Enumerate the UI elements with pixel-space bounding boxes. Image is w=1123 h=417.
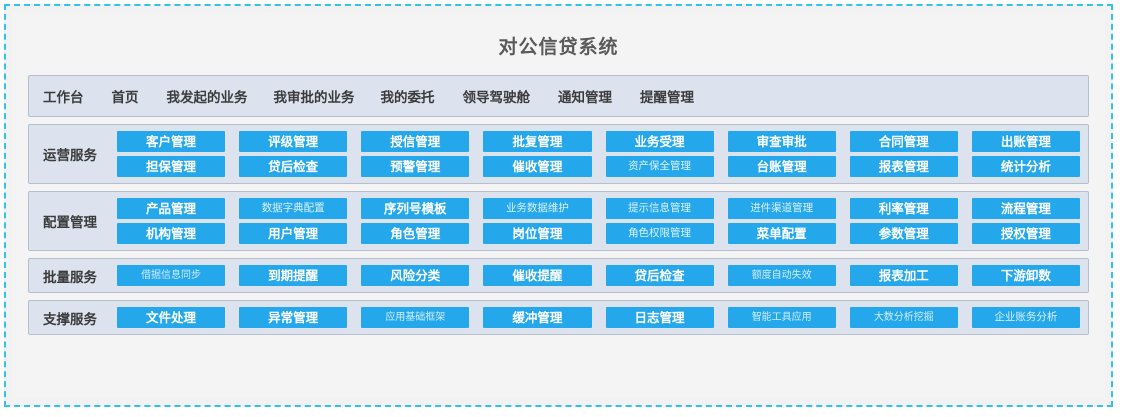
module-grid-configuration-management: 产品管理 数据字典配置 序列号模板 业务数据维护 提示信息管理 进件渠道管理 利… (117, 198, 1080, 244)
tile-post-management[interactable]: 岗位管理 (483, 223, 591, 244)
tile-enterprise-financial-analysis[interactable]: 企业账务分析 (972, 307, 1080, 328)
tile-serial-number-template[interactable]: 序列号模板 (361, 198, 469, 219)
tile-report-management[interactable]: 报表管理 (850, 156, 958, 177)
tile-report-processing[interactable]: 报表加工 (850, 265, 958, 286)
page-title: 对公信贷系统 (12, 12, 1105, 75)
tile-iou-information-sync[interactable]: 借据信息同步 (117, 265, 225, 286)
tile-asset-preservation-management[interactable]: 资产保全管理 (606, 156, 714, 177)
tile-credit-limit-auto-expiry[interactable]: 额度自动失效 (728, 265, 836, 286)
tile-user-management[interactable]: 用户管理 (239, 223, 347, 244)
tile-product-management[interactable]: 产品管理 (117, 198, 225, 219)
tile-parameter-management[interactable]: 参数管理 (850, 223, 958, 244)
tile-customer-management[interactable]: 客户管理 (117, 131, 225, 152)
tile-credit-granting-management[interactable]: 授信管理 (361, 131, 469, 152)
nav-item-home[interactable]: 首页 (112, 86, 139, 106)
tile-log-management[interactable]: 日志管理 (606, 307, 714, 328)
tile-batch-post-loan-inspection[interactable]: 贷后检查 (606, 265, 714, 286)
tile-role-permission-management[interactable]: 角色权限管理 (606, 223, 714, 244)
tile-maturity-reminder[interactable]: 到期提醒 (239, 265, 347, 286)
module-configuration-management: 配置管理 产品管理 数据字典配置 序列号模板 业务数据维护 提示信息管理 进件渠… (28, 191, 1089, 251)
module-label-configuration-management: 配置管理 (37, 211, 117, 231)
nav-item-notification-management[interactable]: 通知管理 (558, 86, 612, 106)
module-batch-service: 批量服务 借据信息同步 到期提醒 风险分类 催收提醒 贷后检查 额度自动失效 报… (28, 258, 1089, 293)
module-support-service: 支撑服务 文件处理 异常管理 应用基础框架 缓冲管理 日志管理 智能工具应用 大… (28, 300, 1089, 335)
tile-review-and-approval[interactable]: 审查审批 (728, 131, 836, 152)
tile-prompt-information-management[interactable]: 提示信息管理 (606, 198, 714, 219)
tile-data-dictionary-configuration[interactable]: 数据字典配置 (239, 198, 347, 219)
app-shell: 对公信贷系统 工作台 首页 我发起的业务 我审批的业务 我的委托 领导驾驶舱 通… (12, 12, 1105, 399)
tile-ledger-management[interactable]: 台账管理 (728, 156, 836, 177)
nav-item-my-approved-business[interactable]: 我审批的业务 (274, 86, 355, 106)
tile-guarantee-management[interactable]: 担保管理 (117, 156, 225, 177)
tile-risk-classification[interactable]: 风险分类 (361, 265, 469, 286)
nav-item-my-delegation[interactable]: 我的委托 (381, 86, 435, 106)
tile-buffer-management[interactable]: 缓冲管理 (483, 307, 591, 328)
tile-big-data-analysis-mining[interactable]: 大数分析挖掘 (850, 307, 958, 328)
tile-exception-management[interactable]: 异常管理 (239, 307, 347, 328)
module-grid-batch-service: 借据信息同步 到期提醒 风险分类 催收提醒 贷后检查 额度自动失效 报表加工 下… (117, 265, 1080, 286)
nav-item-workbench[interactable]: 工作台 (43, 86, 84, 106)
nav-item-reminder-management[interactable]: 提醒管理 (640, 86, 694, 106)
module-grid-operations-service: 客户管理 评级管理 授信管理 批复管理 业务受理 审查审批 合同管理 出账管理 … (117, 131, 1080, 177)
tile-business-acceptance[interactable]: 业务受理 (606, 131, 714, 152)
tile-application-base-framework[interactable]: 应用基础框架 (361, 307, 469, 328)
tile-early-warning-management[interactable]: 预警管理 (361, 156, 469, 177)
tile-statistical-analysis[interactable]: 统计分析 (972, 156, 1080, 177)
page-frame: 对公信贷系统 工作台 首页 我发起的业务 我审批的业务 我的委托 领导驾驶舱 通… (4, 4, 1113, 407)
module-grid-support-service: 文件处理 异常管理 应用基础框架 缓冲管理 日志管理 智能工具应用 大数分析挖掘… (117, 307, 1080, 328)
tile-organization-management[interactable]: 机构管理 (117, 223, 225, 244)
tile-downstream-data-unload[interactable]: 下游卸数 (972, 265, 1080, 286)
main-navigation: 工作台 首页 我发起的业务 我审批的业务 我的委托 领导驾驶舱 通知管理 提醒管… (28, 75, 1089, 117)
tile-collection-management[interactable]: 催收管理 (483, 156, 591, 177)
tile-business-data-maintenance[interactable]: 业务数据维护 (483, 198, 591, 219)
tile-rating-management[interactable]: 评级管理 (239, 131, 347, 152)
tile-file-processing[interactable]: 文件处理 (117, 307, 225, 328)
tile-application-channel-management[interactable]: 进件渠道管理 (728, 198, 836, 219)
tile-interest-rate-management[interactable]: 利率管理 (850, 198, 958, 219)
tile-contract-management[interactable]: 合同管理 (850, 131, 958, 152)
tile-intelligent-tool-application[interactable]: 智能工具应用 (728, 307, 836, 328)
tile-collection-reminder[interactable]: 催收提醒 (483, 265, 591, 286)
module-label-batch-service: 批量服务 (37, 266, 117, 286)
tile-authorization-management[interactable]: 授权管理 (972, 223, 1080, 244)
nav-item-leadership-cockpit[interactable]: 领导驾驶舱 (463, 86, 531, 106)
tile-approval-reply-management[interactable]: 批复管理 (483, 131, 591, 152)
tile-process-management[interactable]: 流程管理 (972, 198, 1080, 219)
module-operations-service: 运营服务 客户管理 评级管理 授信管理 批复管理 业务受理 审查审批 合同管理 … (28, 124, 1089, 184)
nav-item-my-initiated-business[interactable]: 我发起的业务 (167, 86, 248, 106)
module-label-operations-service: 运营服务 (37, 144, 117, 164)
tile-role-management[interactable]: 角色管理 (361, 223, 469, 244)
tile-post-loan-inspection[interactable]: 贷后检查 (239, 156, 347, 177)
tile-disbursement-management[interactable]: 出账管理 (972, 131, 1080, 152)
tile-menu-configuration[interactable]: 菜单配置 (728, 223, 836, 244)
module-label-support-service: 支撑服务 (37, 308, 117, 328)
